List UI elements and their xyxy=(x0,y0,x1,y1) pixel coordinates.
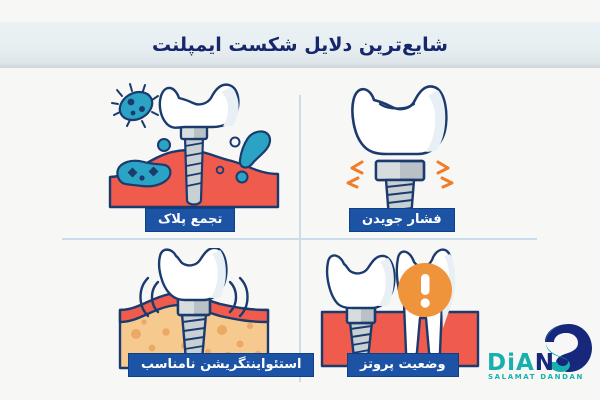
brand-logo[interactable]: DiAN SALAMAT DANDAN xyxy=(487,318,595,390)
page-title: شایع‌ترین دلایل شکست ایمپلنت xyxy=(0,22,600,68)
badge-plaque-accumulation[interactable]: تجمع پلاک xyxy=(145,208,235,232)
logo-tagline: SALAMAT DANDAN xyxy=(488,374,584,381)
infographic-canvas: شایع‌ترین دلایل شکست ایمپلنت xyxy=(0,0,600,400)
crown-icon xyxy=(327,255,394,308)
badge-chewing-pressure[interactable]: فشار جویدن xyxy=(349,208,455,232)
crown-icon xyxy=(352,86,446,154)
crown-icon xyxy=(159,248,226,300)
horizontal-divider xyxy=(62,238,537,240)
warning-icon xyxy=(398,263,452,317)
badge-improper-osseointegration[interactable]: استئواینتگریشن نامناسب xyxy=(128,353,314,377)
logo-wordmark: DiAN xyxy=(487,352,555,375)
badge-prosthesis-condition[interactable]: وضعیت پروتز xyxy=(347,353,459,377)
crown-icon xyxy=(160,85,239,128)
